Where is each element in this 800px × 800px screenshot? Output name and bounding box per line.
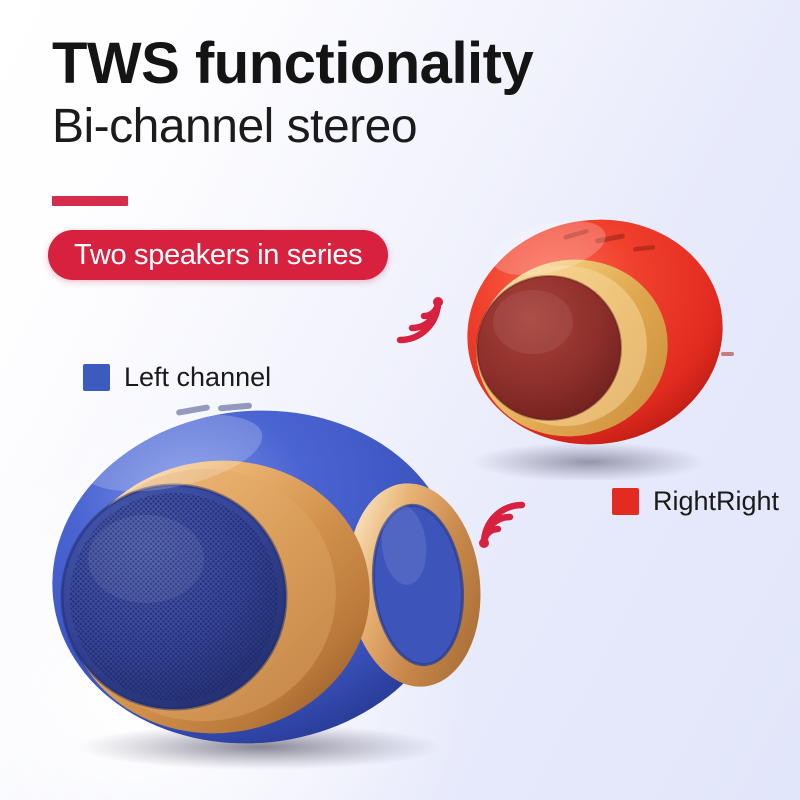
blue-signal-icon (470, 495, 532, 557)
product-poster: TWS functionality Bi-channel stereo Two … (0, 0, 800, 800)
square-swatch-icon (83, 364, 110, 391)
square-swatch-icon (612, 488, 639, 515)
headline-line-2: Bi-channel stereo (52, 99, 752, 156)
blue-speaker (22, 395, 492, 770)
red-speaker-shadow (471, 442, 707, 480)
legend-left-channel-label: Left channel (124, 362, 271, 393)
status-badge-label: Two speakers in series (74, 239, 362, 272)
headline-line-1: TWS functionality (52, 34, 752, 95)
page-title: TWS functionality Bi-channel stereo (52, 34, 752, 156)
blue-speaker-grille (62, 485, 286, 709)
legend-right-channel: RightRight (612, 486, 779, 517)
accent-bar (52, 196, 128, 206)
red-signal-icon (390, 288, 452, 350)
legend-left-channel: Left channel (83, 362, 271, 393)
red-speaker-port (721, 352, 734, 356)
status-badge: Two speakers in series (48, 230, 388, 280)
legend-right-channel-label: RightRight (653, 486, 779, 517)
